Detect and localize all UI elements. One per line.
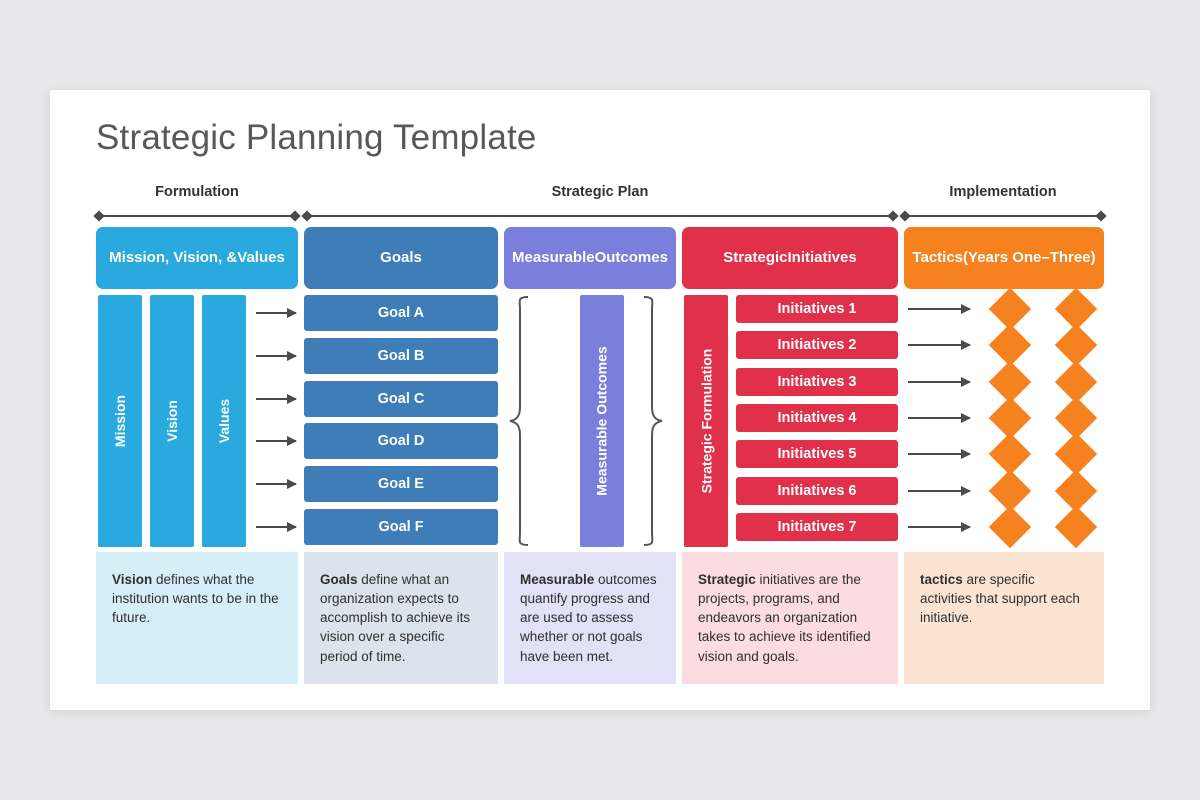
- column-header-line: Goals: [380, 249, 422, 268]
- outcomes-brace-left: [508, 295, 534, 547]
- initiative-to-tactic-arrow-3: [908, 381, 970, 383]
- formulation-to-goal-arrow-6: [256, 526, 296, 528]
- goal-bar-label: Goal F: [378, 519, 423, 535]
- initiative-bar-4[interactable]: Initiatives 4: [736, 404, 898, 432]
- formulation-bar-label: Vision: [164, 400, 180, 442]
- initiative-to-tactic-arrow-4: [908, 417, 970, 419]
- column-header-line: Initiatives: [788, 249, 857, 268]
- description-measurable-outcomes: Measurable outcomes quantify progress an…: [504, 552, 676, 684]
- column-header-goals: Goals: [304, 227, 498, 289]
- column-header-mission-vision-values: Mission, Vision, &Values: [96, 227, 298, 289]
- formulation-to-goal-arrow-2: [256, 355, 296, 357]
- phase-line-1: [304, 215, 896, 217]
- formulation-bar-mission: Mission: [98, 295, 142, 547]
- goal-bar-f[interactable]: Goal F: [304, 509, 498, 545]
- description-goals: Goals define what an organization expect…: [304, 552, 498, 684]
- initiative-bar-label: Initiatives 1: [778, 301, 857, 317]
- column-header-strategic-initiatives: StrategicInitiatives: [682, 227, 898, 289]
- goal-bar-label: Goal A: [378, 305, 424, 321]
- description-lead: Vision: [112, 572, 152, 587]
- goal-bar-b[interactable]: Goal B: [304, 338, 498, 374]
- initiative-to-tactic-arrow-6: [908, 490, 970, 492]
- formulation-to-goal-arrow-3: [256, 398, 296, 400]
- formulation-to-goal-arrow-5: [256, 483, 296, 485]
- column-header-line: Mission, Vision, &: [109, 249, 237, 268]
- column-header-line: Tactics: [912, 249, 963, 268]
- tactic-diamond-r7-c2: [1055, 506, 1097, 548]
- initiative-bar-1[interactable]: Initiatives 1: [736, 295, 898, 323]
- goal-bar-e[interactable]: Goal E: [304, 466, 498, 502]
- column-header-line: (Years One–Three): [963, 249, 1096, 268]
- strategic-formulation-bar: Strategic Formulation: [684, 295, 728, 547]
- phase-label-1: Strategic Plan: [304, 184, 896, 200]
- slide-canvas: Strategic Planning Template FormulationS…: [50, 90, 1150, 710]
- page-title: Strategic Planning Template: [96, 118, 537, 158]
- formulation-bar-label: Mission: [112, 395, 128, 447]
- phase-label-2: Implementation: [902, 184, 1104, 200]
- column-header-tactics: Tactics(Years One–Three): [904, 227, 1104, 289]
- strategic-formulation-bar-label: Strategic Formulation: [698, 349, 714, 494]
- initiative-to-tactic-arrow-7: [908, 526, 970, 528]
- formulation-bar-vision: Vision: [150, 295, 194, 547]
- initiative-bar-label: Initiatives 4: [778, 410, 857, 426]
- initiative-bar-label: Initiatives 5: [778, 446, 857, 462]
- column-header-measurable-outcomes: MeasurableOutcomes: [504, 227, 676, 289]
- goal-bar-d[interactable]: Goal D: [304, 423, 498, 459]
- description-strategic-initiatives: Strategic initiatives are the projects, …: [682, 552, 898, 684]
- initiative-bar-label: Initiatives 2: [778, 337, 857, 353]
- column-header-line: Strategic: [723, 249, 787, 268]
- measurable-outcomes-bar-label: Measurable Outcomes: [594, 346, 610, 495]
- initiative-to-tactic-arrow-5: [908, 453, 970, 455]
- initiative-bar-label: Initiatives 7: [778, 519, 857, 535]
- description-mission-vision-values: Vision defines what the institution want…: [96, 552, 298, 684]
- column-header-line: Outcomes: [595, 249, 668, 268]
- measurable-outcomes-bar: Measurable Outcomes: [580, 295, 624, 547]
- diagram-body: MissionVisionValuesGoal AGoal BGoal CGoa…: [50, 295, 1150, 547]
- phase-label-0: Formulation: [96, 184, 298, 200]
- outcomes-brace-right: [638, 295, 664, 547]
- formulation-bar-label: Values: [216, 399, 232, 443]
- column-header-line: Values: [237, 249, 285, 268]
- formulation-bar-values: Values: [202, 295, 246, 547]
- goal-bar-label: Goal C: [378, 391, 425, 407]
- goal-bar-a[interactable]: Goal A: [304, 295, 498, 331]
- goal-bar-label: Goal D: [378, 433, 425, 449]
- initiative-bar-label: Initiatives 6: [778, 483, 857, 499]
- description-lead: tactics: [920, 572, 963, 587]
- formulation-to-goal-arrow-1: [256, 312, 296, 314]
- description-lead: Measurable: [520, 572, 594, 587]
- phase-line-2: [902, 215, 1104, 217]
- initiative-bar-6[interactable]: Initiatives 6: [736, 477, 898, 505]
- tactic-diamond-r7-c1: [989, 506, 1031, 548]
- initiative-to-tactic-arrow-1: [908, 308, 970, 310]
- goal-bar-label: Goal B: [378, 348, 425, 364]
- initiative-bar-3[interactable]: Initiatives 3: [736, 368, 898, 396]
- description-lead: Strategic: [698, 572, 756, 587]
- formulation-to-goal-arrow-4: [256, 440, 296, 442]
- initiative-bar-2[interactable]: Initiatives 2: [736, 331, 898, 359]
- phase-line-0: [96, 215, 298, 217]
- initiative-bar-5[interactable]: Initiatives 5: [736, 440, 898, 468]
- goal-bar-c[interactable]: Goal C: [304, 381, 498, 417]
- goal-bar-label: Goal E: [378, 476, 424, 492]
- description-lead: Goals: [320, 572, 358, 587]
- description-tactics: tactics are specific activities that sup…: [904, 552, 1104, 684]
- initiative-bar-7[interactable]: Initiatives 7: [736, 513, 898, 541]
- column-header-line: Measurable: [512, 249, 595, 268]
- initiative-to-tactic-arrow-2: [908, 344, 970, 346]
- initiative-bar-label: Initiatives 3: [778, 374, 857, 390]
